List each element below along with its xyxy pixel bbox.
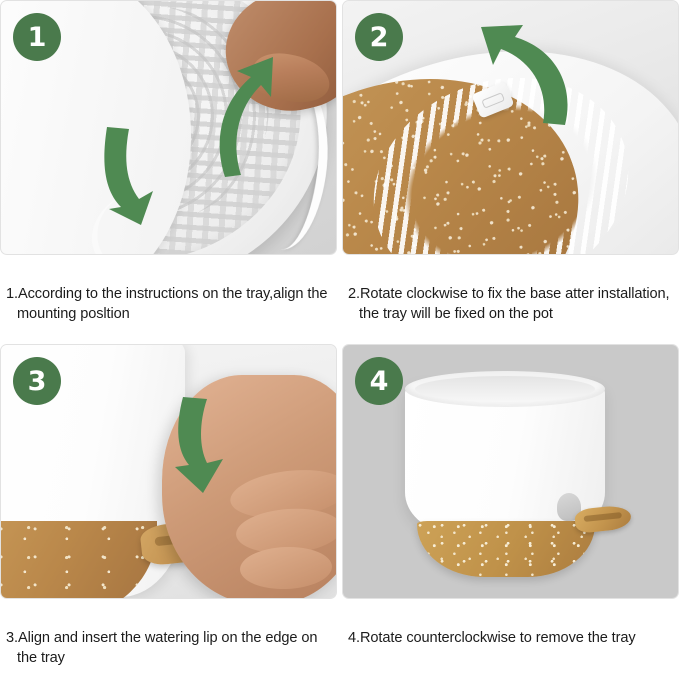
step-3-photo: 3: [0, 344, 337, 599]
arrow-down-icon: [99, 121, 173, 231]
arrow-up-right-icon: [199, 53, 283, 181]
step-2-caption-line2: the tray will be fixed on the pot: [348, 304, 675, 324]
step-4-badge: 4: [355, 357, 403, 405]
step-2-caption-line1: 2.Rotate clockwise to fix the base atter…: [348, 286, 670, 302]
step-1-photo: 1: [0, 0, 337, 255]
step-1-caption-line1: 1.According to the instructions on the t…: [6, 286, 327, 302]
step-1-caption-line2: mounting posltion: [6, 304, 333, 324]
finger: [239, 545, 332, 590]
speckled-base: [0, 521, 157, 599]
step-1-badge: 1: [13, 13, 61, 61]
step-3-badge: 3: [13, 357, 61, 405]
step-2-badge: 2: [355, 13, 403, 61]
step-1-caption: 1.According to the instructions on the t…: [0, 255, 337, 344]
step-3-caption-line1: 3.Align and insert the watering lip on t…: [6, 630, 317, 646]
step-4: 4 4.Rotate counterclockwise to remove th…: [342, 344, 679, 688]
step-3-caption-line2: the tray: [6, 648, 333, 668]
step-2: 2 2.Rotate clockwise to fix the base att…: [342, 0, 679, 344]
step-3-caption: 3.Align and insert the watering lip on t…: [0, 599, 337, 688]
step-2-photo: 2: [342, 0, 679, 255]
base-speckle-texture: [417, 521, 595, 577]
arrow-down-icon: [169, 393, 231, 499]
arrow-curved-up-left-icon: [471, 21, 581, 131]
step-3: 3 3.Align and insert the watering lip on…: [0, 344, 337, 688]
base-speckle-texture: [0, 521, 157, 599]
pot-interior: [415, 376, 595, 402]
speckled-base: [417, 521, 595, 577]
step-4-photo: 4: [342, 344, 679, 599]
step-2-caption: 2.Rotate clockwise to fix the base atter…: [342, 255, 679, 344]
step-1: 1 1.According to the instructions on the…: [0, 0, 337, 344]
step-4-caption-line1: 4.Rotate counterclockwise to remove the …: [348, 630, 636, 646]
instruction-sheet: 1 1.According to the instructions on the…: [0, 0, 679, 652]
step-grid: 1 1.According to the instructions on the…: [0, 0, 679, 688]
step-4-caption: 4.Rotate counterclockwise to remove the …: [342, 599, 679, 668]
